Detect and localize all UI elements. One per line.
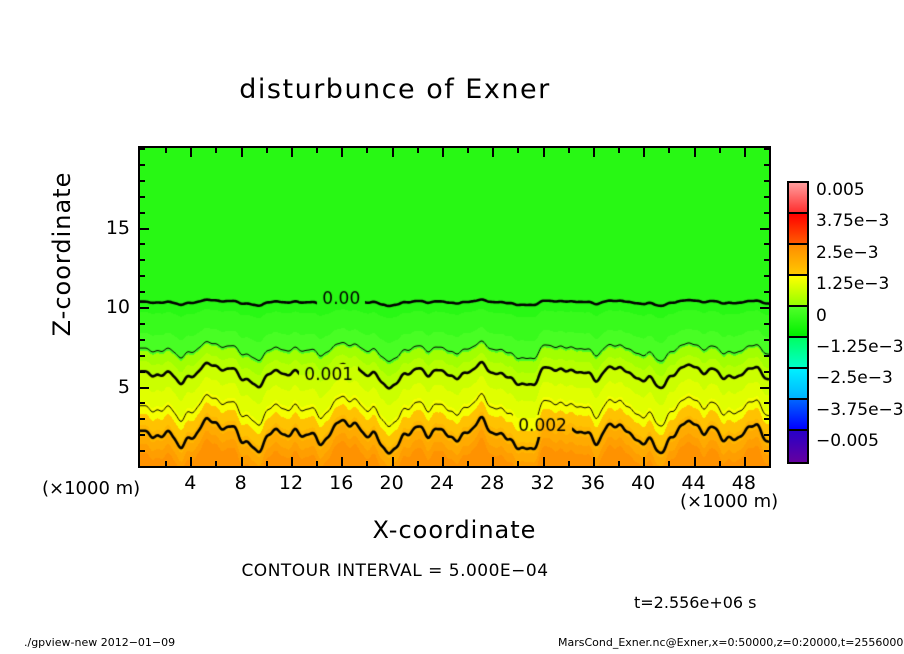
time-stamp-note: t=2.556e+06 s (634, 593, 757, 612)
colorbar-cell (789, 431, 807, 462)
y-axis-tick (764, 196, 769, 198)
x-axis-tick (517, 461, 519, 466)
colorbar-cell (789, 369, 807, 400)
x-axis-tick (694, 148, 696, 157)
x-axis-title: X-coordinate (138, 516, 771, 544)
y-axis-tick (140, 148, 145, 150)
colorbar-tick-label: −3.75e−3 (816, 400, 904, 420)
colorbar-tick-label: −2.5e−3 (816, 368, 893, 388)
colorbar-cell (789, 214, 807, 245)
y-axis-tick (140, 243, 145, 245)
y-axis-tick (140, 228, 149, 230)
x-axis-tick (568, 461, 570, 466)
x-axis-tick (190, 148, 192, 157)
x-axis-tick (165, 461, 167, 466)
page-title: disturbunce of Exner (0, 74, 790, 105)
x-axis-tick (744, 148, 746, 157)
x-axis-tick-label: 4 (168, 472, 212, 494)
colorbar-cell (789, 245, 807, 276)
y-axis-tick (764, 291, 769, 293)
y-axis-tick (764, 180, 769, 182)
y-axis-tick (140, 434, 145, 436)
x-axis-tick (392, 148, 394, 157)
x-axis-tick (215, 148, 217, 153)
y-axis-tick (140, 307, 149, 309)
y-axis-tick (764, 243, 769, 245)
x-axis-tick (215, 461, 217, 466)
x-axis-tick (266, 461, 268, 466)
x-axis-tick (366, 461, 368, 466)
x-axis-tick (241, 457, 243, 466)
x-axis-tick-label: 44 (672, 472, 716, 494)
y-axis-tick-label: 10 (98, 296, 130, 318)
x-axis-tick (442, 457, 444, 466)
y-axis-tick-label: 5 (98, 376, 130, 398)
y-axis-tick (764, 450, 769, 452)
y-axis-tick (140, 402, 145, 404)
y-axis-tick (764, 275, 769, 277)
x-axis-tick (593, 148, 595, 157)
x-axis-tick (618, 461, 620, 466)
footer-command-date: ./gpview-new 2012−01−09 (24, 636, 175, 649)
x-axis-tick (467, 148, 469, 153)
y-axis-tick (140, 196, 145, 198)
y-axis-tick (764, 148, 769, 150)
colorbar-tick-label: −1.25e−3 (816, 337, 904, 357)
x-axis-tick (694, 457, 696, 466)
x-axis-tick-label: 40 (621, 472, 665, 494)
y-axis-tick (140, 339, 145, 341)
x-axis-tick (341, 148, 343, 157)
colorbar-tick-label: 1.25e−3 (816, 274, 889, 294)
x-axis-tick (291, 457, 293, 466)
x-axis-tick (643, 148, 645, 157)
x-axis-tick (417, 461, 419, 466)
x-axis-tick-label: 32 (521, 472, 565, 494)
colorbar-cell (789, 338, 807, 369)
y-axis-tick (140, 387, 149, 389)
x-axis-tick (442, 148, 444, 157)
y-axis-tick (760, 307, 769, 309)
x-axis-tick (291, 148, 293, 157)
x-axis-tick (643, 457, 645, 466)
colorbar-cell (789, 183, 807, 214)
x-axis-tick (266, 148, 268, 153)
x-axis-tick (341, 457, 343, 466)
x-axis-tick-label: 36 (571, 472, 615, 494)
contour-interval-note: CONTOUR INTERVAL = 5.000E−04 (0, 561, 790, 581)
x-axis-tick-label: 20 (370, 472, 414, 494)
y-axis-tick (764, 212, 769, 214)
y-axis-tick (764, 339, 769, 341)
y-axis-tick (764, 164, 769, 166)
y-axis-tick (764, 418, 769, 420)
y-axis-tick (764, 402, 769, 404)
y-axis-title: Z-coordinate (48, 144, 76, 364)
x-axis-tick (668, 461, 670, 466)
y-axis-tick (140, 291, 145, 293)
x-axis-tick (744, 457, 746, 466)
x-axis-tick (719, 461, 721, 466)
y-axis-tick (760, 387, 769, 389)
x-axis-tick-label: 28 (470, 472, 514, 494)
colorbar-tick-label: 3.75e−3 (816, 211, 889, 231)
x-axis-tick (517, 148, 519, 153)
y-axis-tick (140, 212, 145, 214)
x-axis-tick (668, 148, 670, 153)
x-axis-tick-label: 16 (319, 472, 363, 494)
x-axis-tick (769, 148, 771, 153)
colorbar (787, 181, 809, 464)
colorbar-tick-label: −0.005 (816, 431, 879, 451)
x-axis-tick (392, 457, 394, 466)
y-axis-tick (140, 418, 145, 420)
x-axis-tick (492, 148, 494, 157)
x-axis-tick-label: 8 (219, 472, 263, 494)
x-axis-tick (593, 457, 595, 466)
colorbar-cell (789, 307, 807, 338)
colorbar-cell (789, 276, 807, 307)
y-axis-tick (764, 323, 769, 325)
x-axis-tick (568, 148, 570, 153)
y-axis-tick (764, 259, 769, 261)
x-axis-tick-label: 24 (420, 472, 464, 494)
y-axis-tick (140, 323, 145, 325)
contour-plot-area (138, 146, 771, 468)
y-axis-tick (764, 355, 769, 357)
colorbar-tick-label: 0.005 (816, 180, 865, 200)
x-axis-tick (316, 148, 318, 153)
x-axis-tick (366, 148, 368, 153)
y-axis-tick (140, 275, 145, 277)
y-axis-tick (764, 434, 769, 436)
footer-datasource: MarsCond_Exner.nc@Exner,x=0:50000,z=0:20… (558, 636, 903, 649)
contour-field-canvas (140, 148, 769, 466)
x-axis-tick-label: 12 (269, 472, 313, 494)
x-axis-tick (417, 148, 419, 153)
y-axis-tick (140, 259, 145, 261)
x-axis-unit-label: (×1000 m) (680, 491, 778, 512)
x-axis-tick (492, 457, 494, 466)
x-axis-tick (190, 457, 192, 466)
x-axis-tick-label: 48 (722, 472, 766, 494)
y-axis-tick (140, 450, 145, 452)
x-axis-tick (618, 148, 620, 153)
x-axis-tick (769, 461, 771, 466)
y-axis-tick (760, 228, 769, 230)
y-axis-tick (140, 164, 145, 166)
x-axis-tick (316, 461, 318, 466)
x-axis-tick (165, 148, 167, 153)
colorbar-tick-label: 2.5e−3 (816, 243, 879, 263)
y-axis-tick (140, 180, 145, 182)
y-axis-tick (140, 355, 145, 357)
x-axis-tick (241, 148, 243, 157)
z-axis-unit-label: (×1000 m) (42, 478, 140, 499)
y-axis-tick (764, 371, 769, 373)
colorbar-tick-label: 0 (816, 306, 827, 326)
x-axis-tick (719, 148, 721, 153)
x-axis-tick (543, 457, 545, 466)
y-axis-tick-label: 15 (98, 217, 130, 239)
y-axis-tick (140, 371, 145, 373)
x-axis-tick (467, 461, 469, 466)
x-axis-tick (543, 148, 545, 157)
colorbar-cell (789, 400, 807, 431)
